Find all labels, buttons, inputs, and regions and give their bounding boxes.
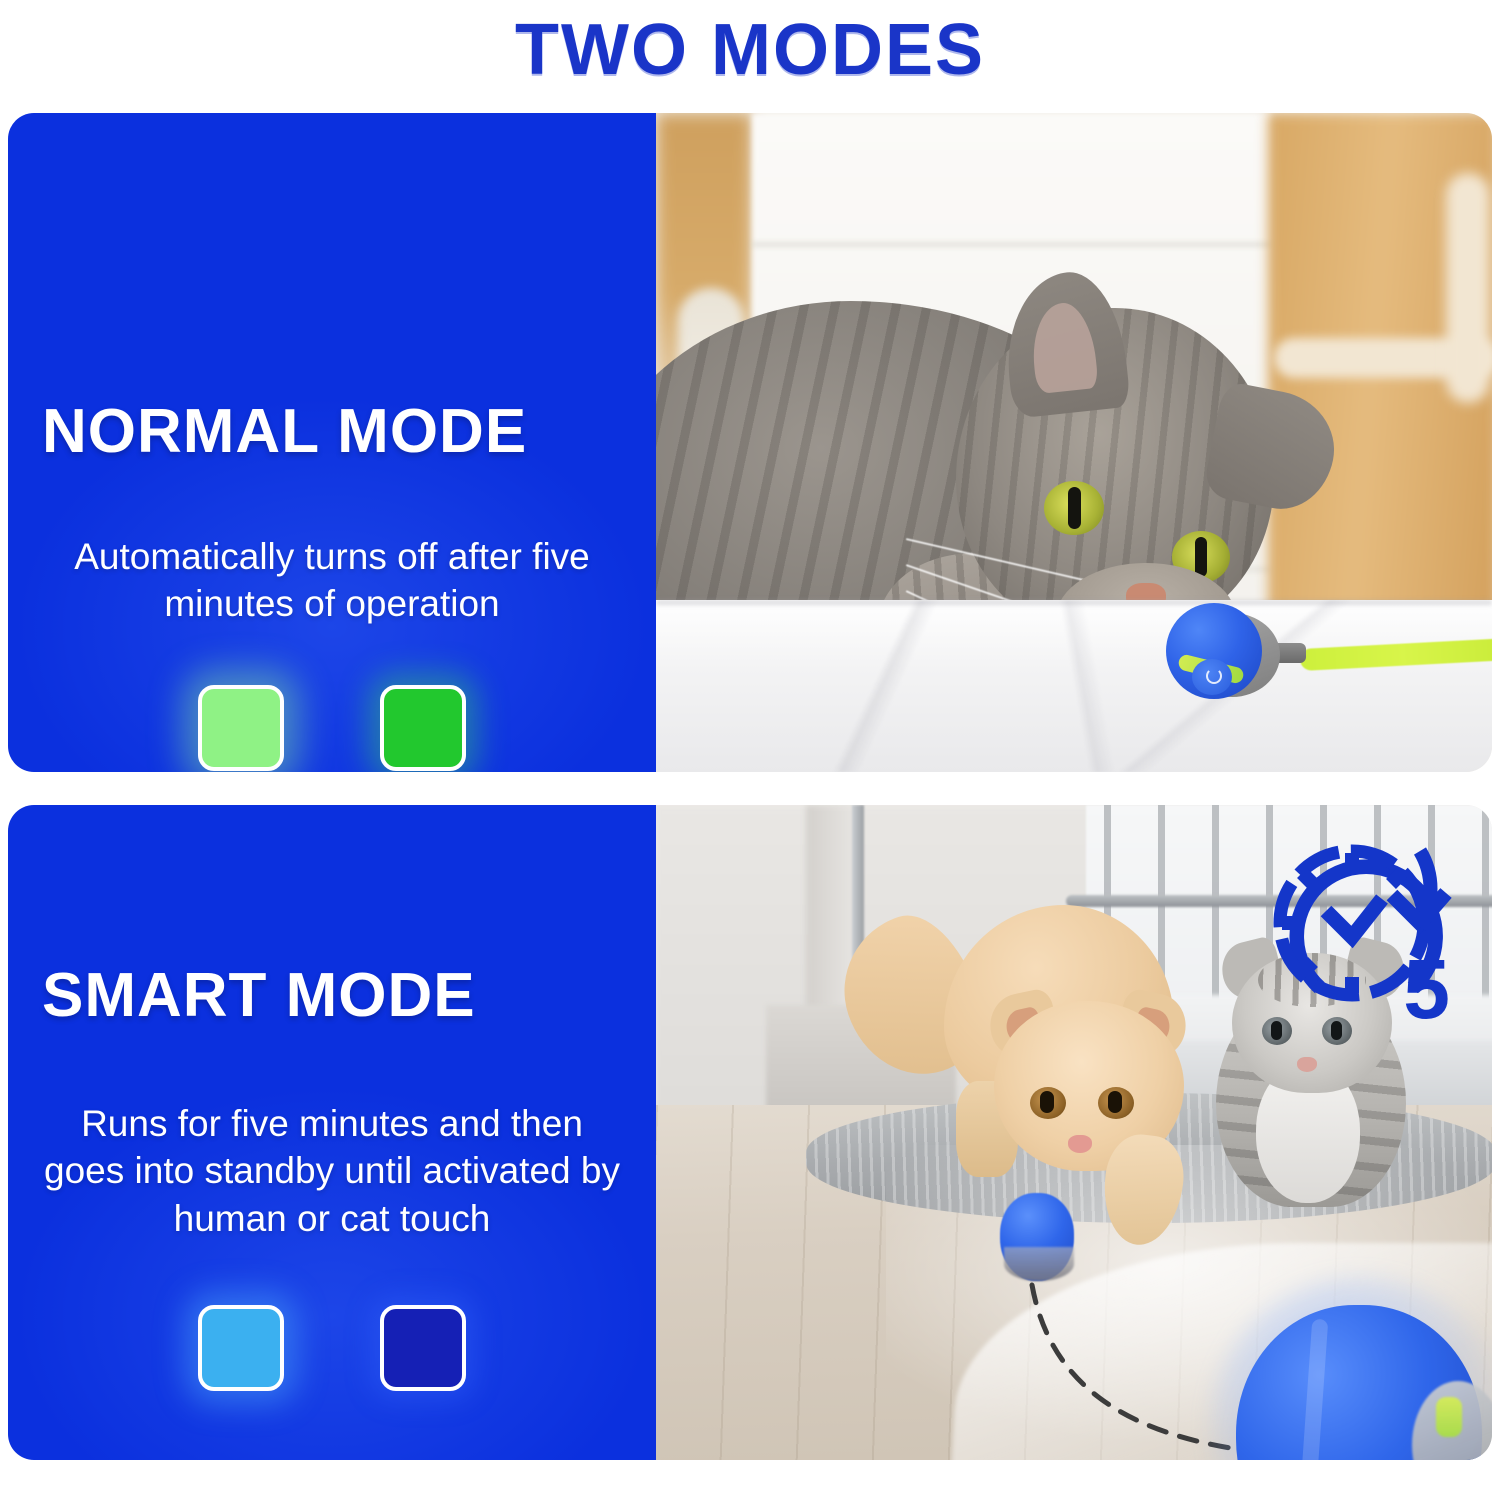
swatch-dark-blue [380,1305,466,1391]
orange-kitten-eye-right [1098,1087,1134,1119]
ball-toy-foreground [1226,1285,1492,1460]
page-title: TWO MODES [515,14,985,86]
ball-toy-near-kitten [1000,1193,1082,1285]
normal-mode-photo [656,113,1492,772]
normal-mode-row: NORMAL MODE Automatically turns off afte… [8,113,1492,772]
power-button-icon [1192,659,1232,695]
smart-mode-swatch-group [8,1305,656,1391]
infographic-page: TWO MODES NORMAL MODE Automatically turn… [0,0,1500,1487]
smart-mode-row: SMART MODE Runs for five minutes and the… [8,805,1492,1460]
swatch-light-blue [198,1305,284,1391]
chair-rail [1446,173,1490,403]
orange-kitten-eye-left [1030,1087,1066,1119]
swatch-light-green [198,685,284,771]
grey-kitten-nose [1297,1057,1317,1072]
normal-mode-heading: NORMAL MODE [8,401,656,463]
wall-seam [752,243,1272,246]
orange-kitten-nose [1068,1135,1092,1153]
ball-toy-with-feather [1166,603,1284,701]
toy-led-strip [1436,1397,1462,1437]
smart-mode-description: Runs for five minutes and then goes into… [8,1100,656,1242]
swatch-bright-green [380,685,466,771]
marble-table [656,600,1492,772]
normal-mode-description: Automatically turns off after five minut… [8,533,656,628]
timer-clock-arrow-icon: 5 [1260,831,1470,1031]
smart-mode-panel: SMART MODE Runs for five minutes and the… [8,805,656,1460]
normal-mode-panel: NORMAL MODE Automatically turns off afte… [8,113,656,772]
timer-value: 5 [1403,947,1450,1031]
toy-ring [1004,1247,1074,1281]
grey-cat-eye-left [1044,481,1104,535]
smart-mode-heading: SMART MODE [8,965,656,1027]
page-header: TWO MODES [0,0,1500,100]
smart-mode-photo: 5 [656,805,1492,1460]
normal-mode-swatch-group [8,685,656,771]
